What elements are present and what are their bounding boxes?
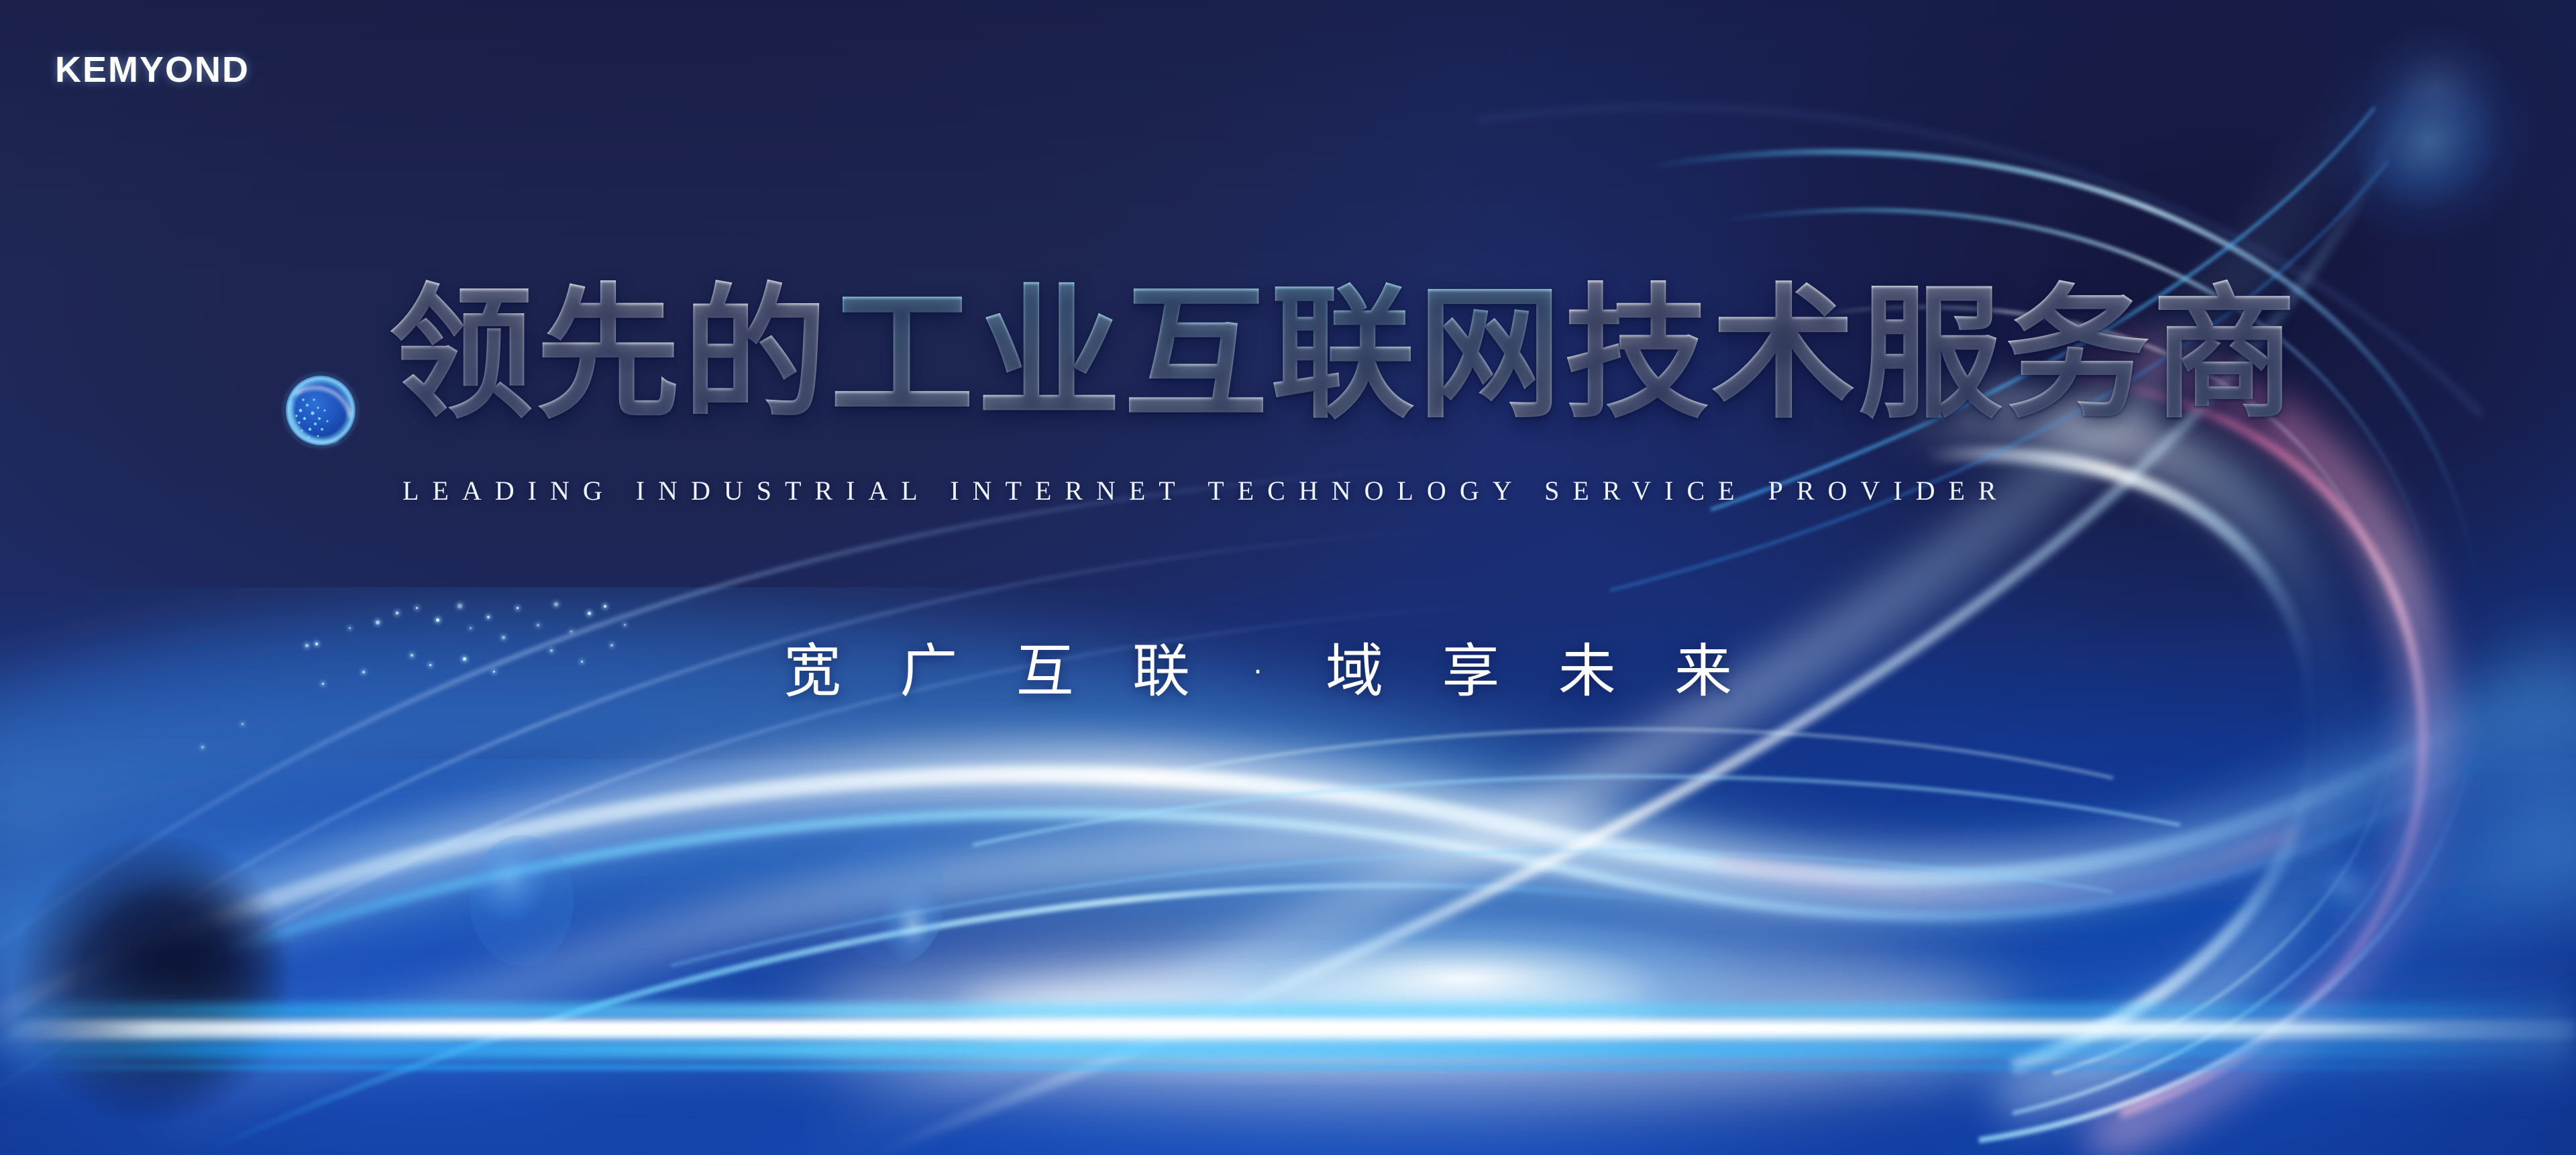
sparkle-dot bbox=[411, 654, 413, 657]
headline-segment-1: 领先的 bbox=[389, 270, 830, 438]
page-title: 领先的工业互联网技术服务商 bbox=[389, 282, 2299, 426]
light-streak-core-inner bbox=[94, 1025, 2442, 1033]
light-streak-core bbox=[0, 1020, 2576, 1040]
sparkle-dot bbox=[241, 723, 244, 725]
brand-logo[interactable]: KEMYOND bbox=[55, 49, 250, 91]
sparkle-dot bbox=[322, 683, 324, 685]
glow-core-center bbox=[1060, 893, 1865, 1066]
sparkle-dot bbox=[201, 746, 204, 749]
dark-blob-bottom-left bbox=[0, 795, 334, 1155]
sparkle-dot bbox=[550, 649, 553, 652]
sparkle-dot bbox=[436, 618, 439, 622]
light-streak-halo bbox=[0, 966, 2576, 1100]
sparkle-dot bbox=[554, 602, 558, 606]
headline-segment-2: 工业互联网 bbox=[830, 270, 1564, 438]
sparkle-dot bbox=[581, 661, 583, 663]
sparkle-dot bbox=[624, 624, 626, 626]
sparkle-dot bbox=[487, 616, 490, 618]
decor-orb-left bbox=[470, 835, 574, 966]
dark-blob-bottom-left-2 bbox=[87, 872, 288, 1087]
sparkle-dot bbox=[305, 644, 309, 647]
sparkle-dot bbox=[396, 612, 398, 614]
light-streak-cyan-upper bbox=[0, 1003, 2576, 1018]
banner-canvas: KEMYOND 领先的工业互联网技术服务商 LEADING INDUSTRIAL… bbox=[0, 0, 2576, 1155]
page-subtitle: LEADING INDUSTRIAL INTERNET TECHNOLOGY S… bbox=[402, 475, 2010, 506]
sparkle-dot bbox=[376, 620, 380, 624]
light-streak-thin-lower bbox=[0, 1065, 2576, 1070]
globe-sphere-icon bbox=[280, 370, 361, 451]
sparkle-dot bbox=[610, 644, 613, 647]
glow-blob-top-right-2 bbox=[2361, 20, 2509, 154]
sparkle-dot bbox=[570, 630, 572, 632]
sparkle-dot bbox=[458, 604, 462, 608]
decor-orb-right bbox=[2304, 845, 2385, 946]
sparkle-dot bbox=[517, 607, 519, 609]
sparkle-dot bbox=[416, 607, 418, 609]
light-streak-cyan-lower bbox=[0, 1041, 2576, 1058]
sparkle-dot bbox=[315, 643, 318, 645]
light-ribbons-graphic bbox=[0, 0, 2576, 1155]
headline-segment-3: 技术服务商 bbox=[1564, 270, 2299, 438]
sparkle-dot bbox=[349, 627, 351, 629]
sparkle-dot bbox=[429, 664, 431, 666]
decor-orb-middle bbox=[835, 828, 946, 966]
sparkle-dot bbox=[604, 605, 606, 608]
sparkle-dot bbox=[362, 671, 365, 673]
sparkle-dot bbox=[537, 624, 539, 626]
glow-blob-top-right bbox=[2279, 0, 2576, 284]
sparkle-dot bbox=[502, 636, 505, 639]
sparkle-dot bbox=[470, 627, 472, 629]
page-tagline: 宽 广 互 联 · 域 享 未 来 bbox=[784, 624, 1752, 708]
sparkle-dot bbox=[463, 657, 466, 661]
top-vignette bbox=[0, 0, 2576, 282]
sparkle-dot bbox=[588, 612, 591, 615]
sparkle-dot bbox=[493, 671, 495, 673]
